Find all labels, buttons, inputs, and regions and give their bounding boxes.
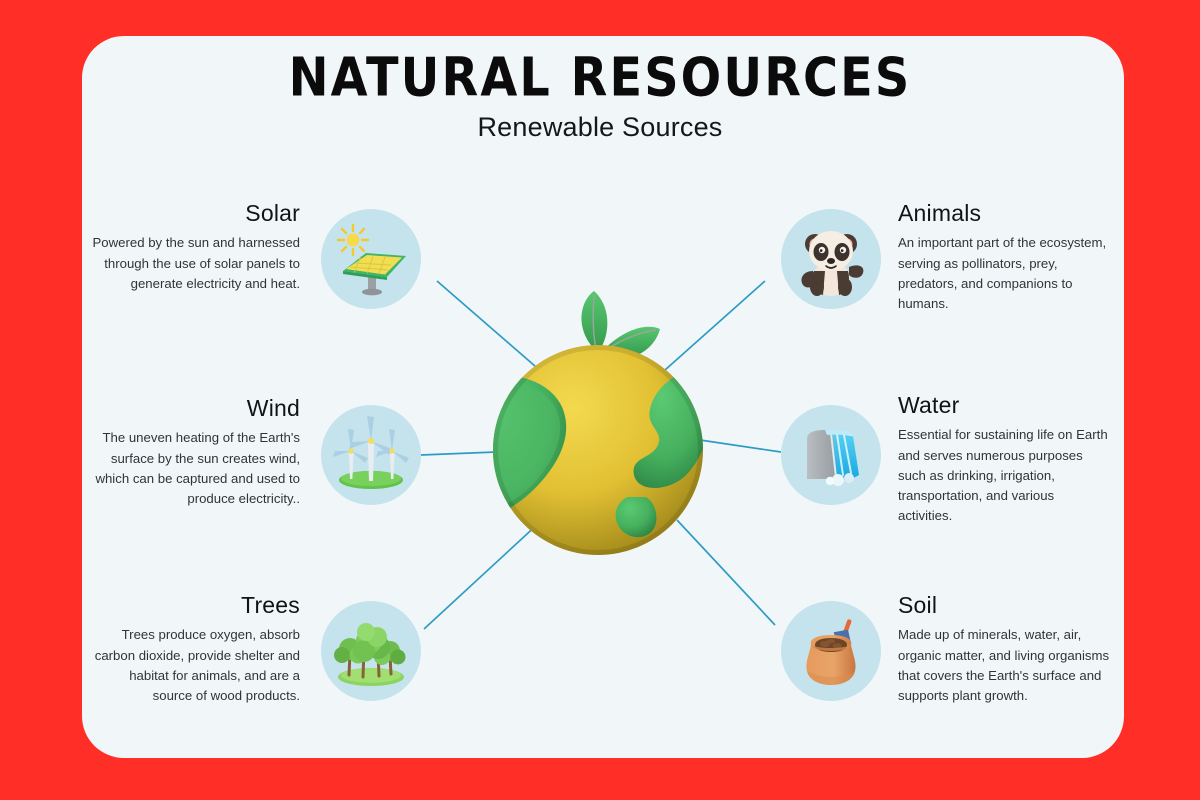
earth-globe-illustration	[478, 285, 718, 555]
item-wind: Wind The uneven heating of the Earth's s…	[88, 395, 300, 509]
trees-icon	[321, 601, 421, 701]
icon-circle-water[interactable]	[781, 405, 881, 505]
item-body-animals: An important part of the ecosystem, serv…	[898, 233, 1110, 313]
item-body-solar: Powered by the sun and harnessed through…	[88, 233, 300, 293]
icon-circle-wind[interactable]	[321, 405, 421, 505]
icon-circle-soil[interactable]	[781, 601, 881, 701]
item-body-wind: The uneven heating of the Earth's surfac…	[88, 428, 300, 508]
waterfall-icon	[781, 405, 881, 505]
item-title-trees: Trees	[88, 592, 300, 618]
item-soil: Soil Made up of minerals, water, air, or…	[898, 592, 1110, 706]
item-body-water: Essential for sustaining life on Earth a…	[898, 425, 1110, 525]
icon-circle-solar[interactable]	[321, 209, 421, 309]
item-title-water: Water	[898, 392, 1110, 418]
item-water: Water Essential for sustaining life on E…	[898, 392, 1110, 526]
item-title-wind: Wind	[88, 395, 300, 421]
item-title-solar: Solar	[88, 200, 300, 226]
panda-animal-icon	[781, 209, 881, 309]
item-body-trees: Trees produce oxygen, absorb carbon diox…	[88, 625, 300, 705]
item-title-soil: Soil	[898, 592, 1110, 618]
item-body-soil: Made up of minerals, water, air, organic…	[898, 625, 1110, 705]
item-solar: Solar Powered by the sun and harnessed t…	[88, 200, 300, 294]
icon-circle-trees[interactable]	[321, 601, 421, 701]
infographic-canvas: NATURAL RESOURCES Renewable Sources	[0, 0, 1200, 800]
wind-turbines-icon	[321, 405, 421, 505]
icon-circle-animals[interactable]	[781, 209, 881, 309]
solar-panel-icon	[321, 209, 421, 309]
item-title-animals: Animals	[898, 200, 1110, 226]
item-trees: Trees Trees produce oxygen, absorb carbo…	[88, 592, 300, 706]
item-animals: Animals An important part of the ecosyst…	[898, 200, 1110, 314]
soil-sack-with-trowel-icon	[781, 601, 881, 701]
